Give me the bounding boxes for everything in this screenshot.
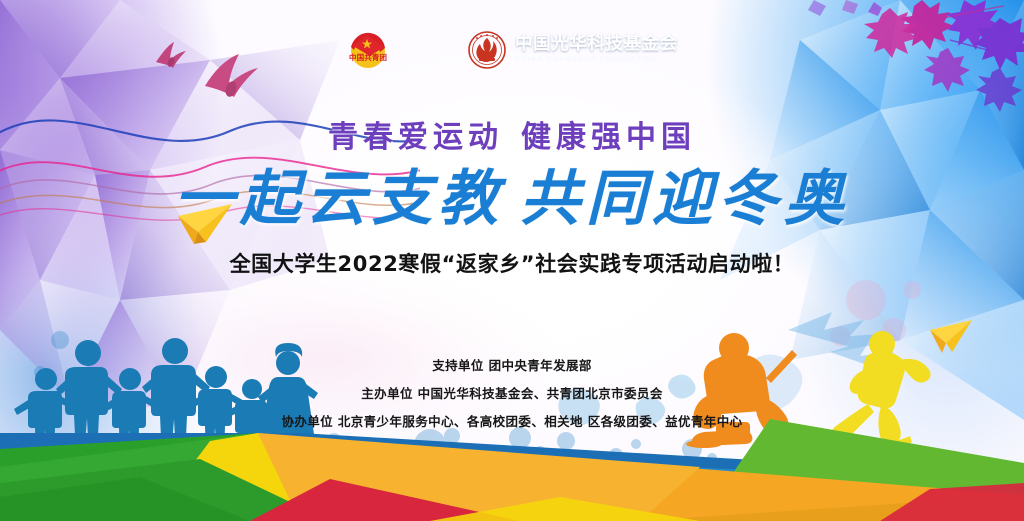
main-title-part-2: 共同迎冬奥 — [520, 164, 850, 234]
credit-line-coorganizer: 协办单位 北京青少年服务中心、各高校团委、相关地 区各级团委、益优青年中心 — [0, 411, 1024, 430]
credit-line-organizer: 主办单位 中国光华科技基金会、共青团北京市委员会 — [0, 383, 1024, 402]
headline-subtitle: 全国大学生2022寒假“返家乡”社会实践专项活动启动啦！ — [0, 248, 1024, 278]
credits-block: 支持单位 团中央青年发展部 主办单位 中国光华科技基金会、共青团北京市委员会 协… — [0, 355, 1024, 430]
guanghua-foundation-logo: 中国光华科技基金会 CHINA GUANGHUA FOUNDATION — [468, 31, 678, 69]
headline-main-title: 一起云支教共同迎冬奥 — [0, 168, 1024, 232]
kicker-part-2: 健康强中国 — [521, 120, 696, 155]
headline-block: 青春爱运动健康强中国 一起云支教共同迎冬奥 全国大学生2022寒假“返家乡”社会… — [0, 112, 1024, 278]
guanghua-name-cn: 中国光华科技基金会 — [515, 36, 678, 54]
kicker-part-1: 青春爱运动 — [328, 120, 503, 155]
communist-youth-league-emblem-icon: 中国共青团 — [346, 28, 390, 72]
credit-line-supporter: 支持单位 团中央青年发展部 — [0, 355, 1024, 374]
logo-row: 中国共青团 中国光华科技基金会 CHINA GUANGHUA FOUN — [0, 28, 1024, 72]
paper-plane-icon — [928, 316, 974, 358]
guanghua-name-en: CHINA GUANGHUA FOUNDATION — [515, 57, 678, 64]
guanghua-foundation-mark-icon — [468, 31, 506, 69]
headline-kicker: 青春爱运动健康强中国 — [0, 112, 1024, 156]
event-poster: 中国共青团 中国光华科技基金会 CHINA GUANGHUA FOUN — [0, 0, 1024, 521]
paper-plane-icon — [176, 198, 234, 250]
svg-text:中国共青团: 中国共青团 — [349, 52, 387, 62]
